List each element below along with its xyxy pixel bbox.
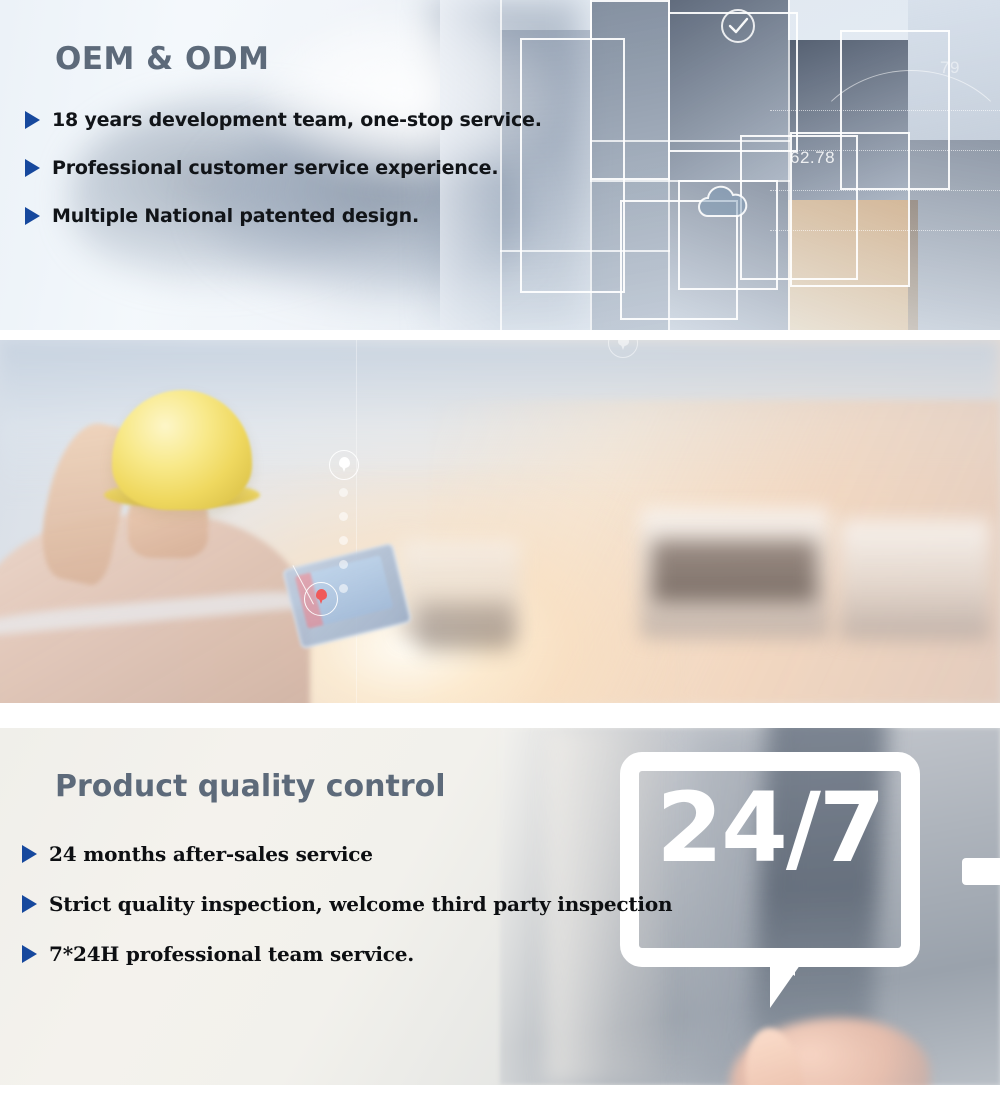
feature-list: 18 years development team, one-stop serv… bbox=[55, 109, 542, 227]
feature-list: 24 months after-sales service Strict qua… bbox=[55, 842, 672, 966]
banner-oem-content: OEM & ODM 18 years development team, one… bbox=[55, 44, 542, 227]
check-circle-icon bbox=[718, 6, 758, 46]
list-item-label: 7*24H professional team service. bbox=[49, 942, 414, 966]
panel-divider bbox=[356, 340, 357, 703]
location-pin-icon bbox=[329, 450, 359, 480]
truck-window-blur bbox=[652, 540, 817, 602]
banner-oem-odm: 62.78 79 OEM & ODM 18 years development … bbox=[0, 0, 1000, 330]
triangle-right-icon bbox=[22, 945, 37, 963]
page-title: OEM & ODM bbox=[55, 44, 542, 75]
overlay-value-partial: 79 bbox=[940, 58, 960, 78]
location-pin-red-icon bbox=[304, 582, 338, 616]
pin-dot-trail bbox=[339, 488, 349, 608]
triangle-right-icon bbox=[22, 845, 37, 863]
speech-bubble-tail bbox=[770, 948, 812, 1008]
speech-bubble-dash bbox=[962, 858, 1000, 885]
banner-competitive-pricing: Competitive pricing&Low MOQ customizatio… bbox=[0, 340, 1000, 703]
triangle-right-icon bbox=[25, 111, 40, 129]
promo-banner-page: 62.78 79 OEM & ODM 18 years development … bbox=[0, 0, 1000, 1113]
cloud-icon bbox=[692, 182, 754, 226]
list-item: 7*24H professional team service. bbox=[22, 942, 672, 966]
list-item-label: 24 months after-sales service bbox=[49, 842, 373, 866]
triangle-right-icon bbox=[22, 895, 37, 913]
triangle-right-icon bbox=[25, 207, 40, 225]
list-item: Professional customer service experience… bbox=[25, 157, 542, 179]
list-item-label: Strict quality inspection, welcome third… bbox=[49, 892, 672, 916]
list-item: Multiple National patented design. bbox=[25, 205, 542, 227]
overlay-value: 62.78 bbox=[790, 148, 835, 168]
triangle-right-icon bbox=[25, 159, 40, 177]
list-item: 18 years development team, one-stop serv… bbox=[25, 109, 542, 131]
page-title: Product quality control bbox=[55, 772, 672, 802]
list-item-label: Professional customer service experience… bbox=[52, 157, 498, 179]
truck-blur bbox=[840, 520, 990, 640]
list-item: Strict quality inspection, welcome third… bbox=[22, 892, 672, 916]
truck-shadow-blur bbox=[418, 602, 513, 652]
list-item-label: Multiple National patented design. bbox=[52, 205, 419, 227]
list-item: 24 months after-sales service bbox=[22, 842, 672, 866]
banner-qc-content: Product quality control 24 months after-… bbox=[55, 772, 672, 966]
list-item-label: 18 years development team, one-stop serv… bbox=[52, 109, 542, 131]
